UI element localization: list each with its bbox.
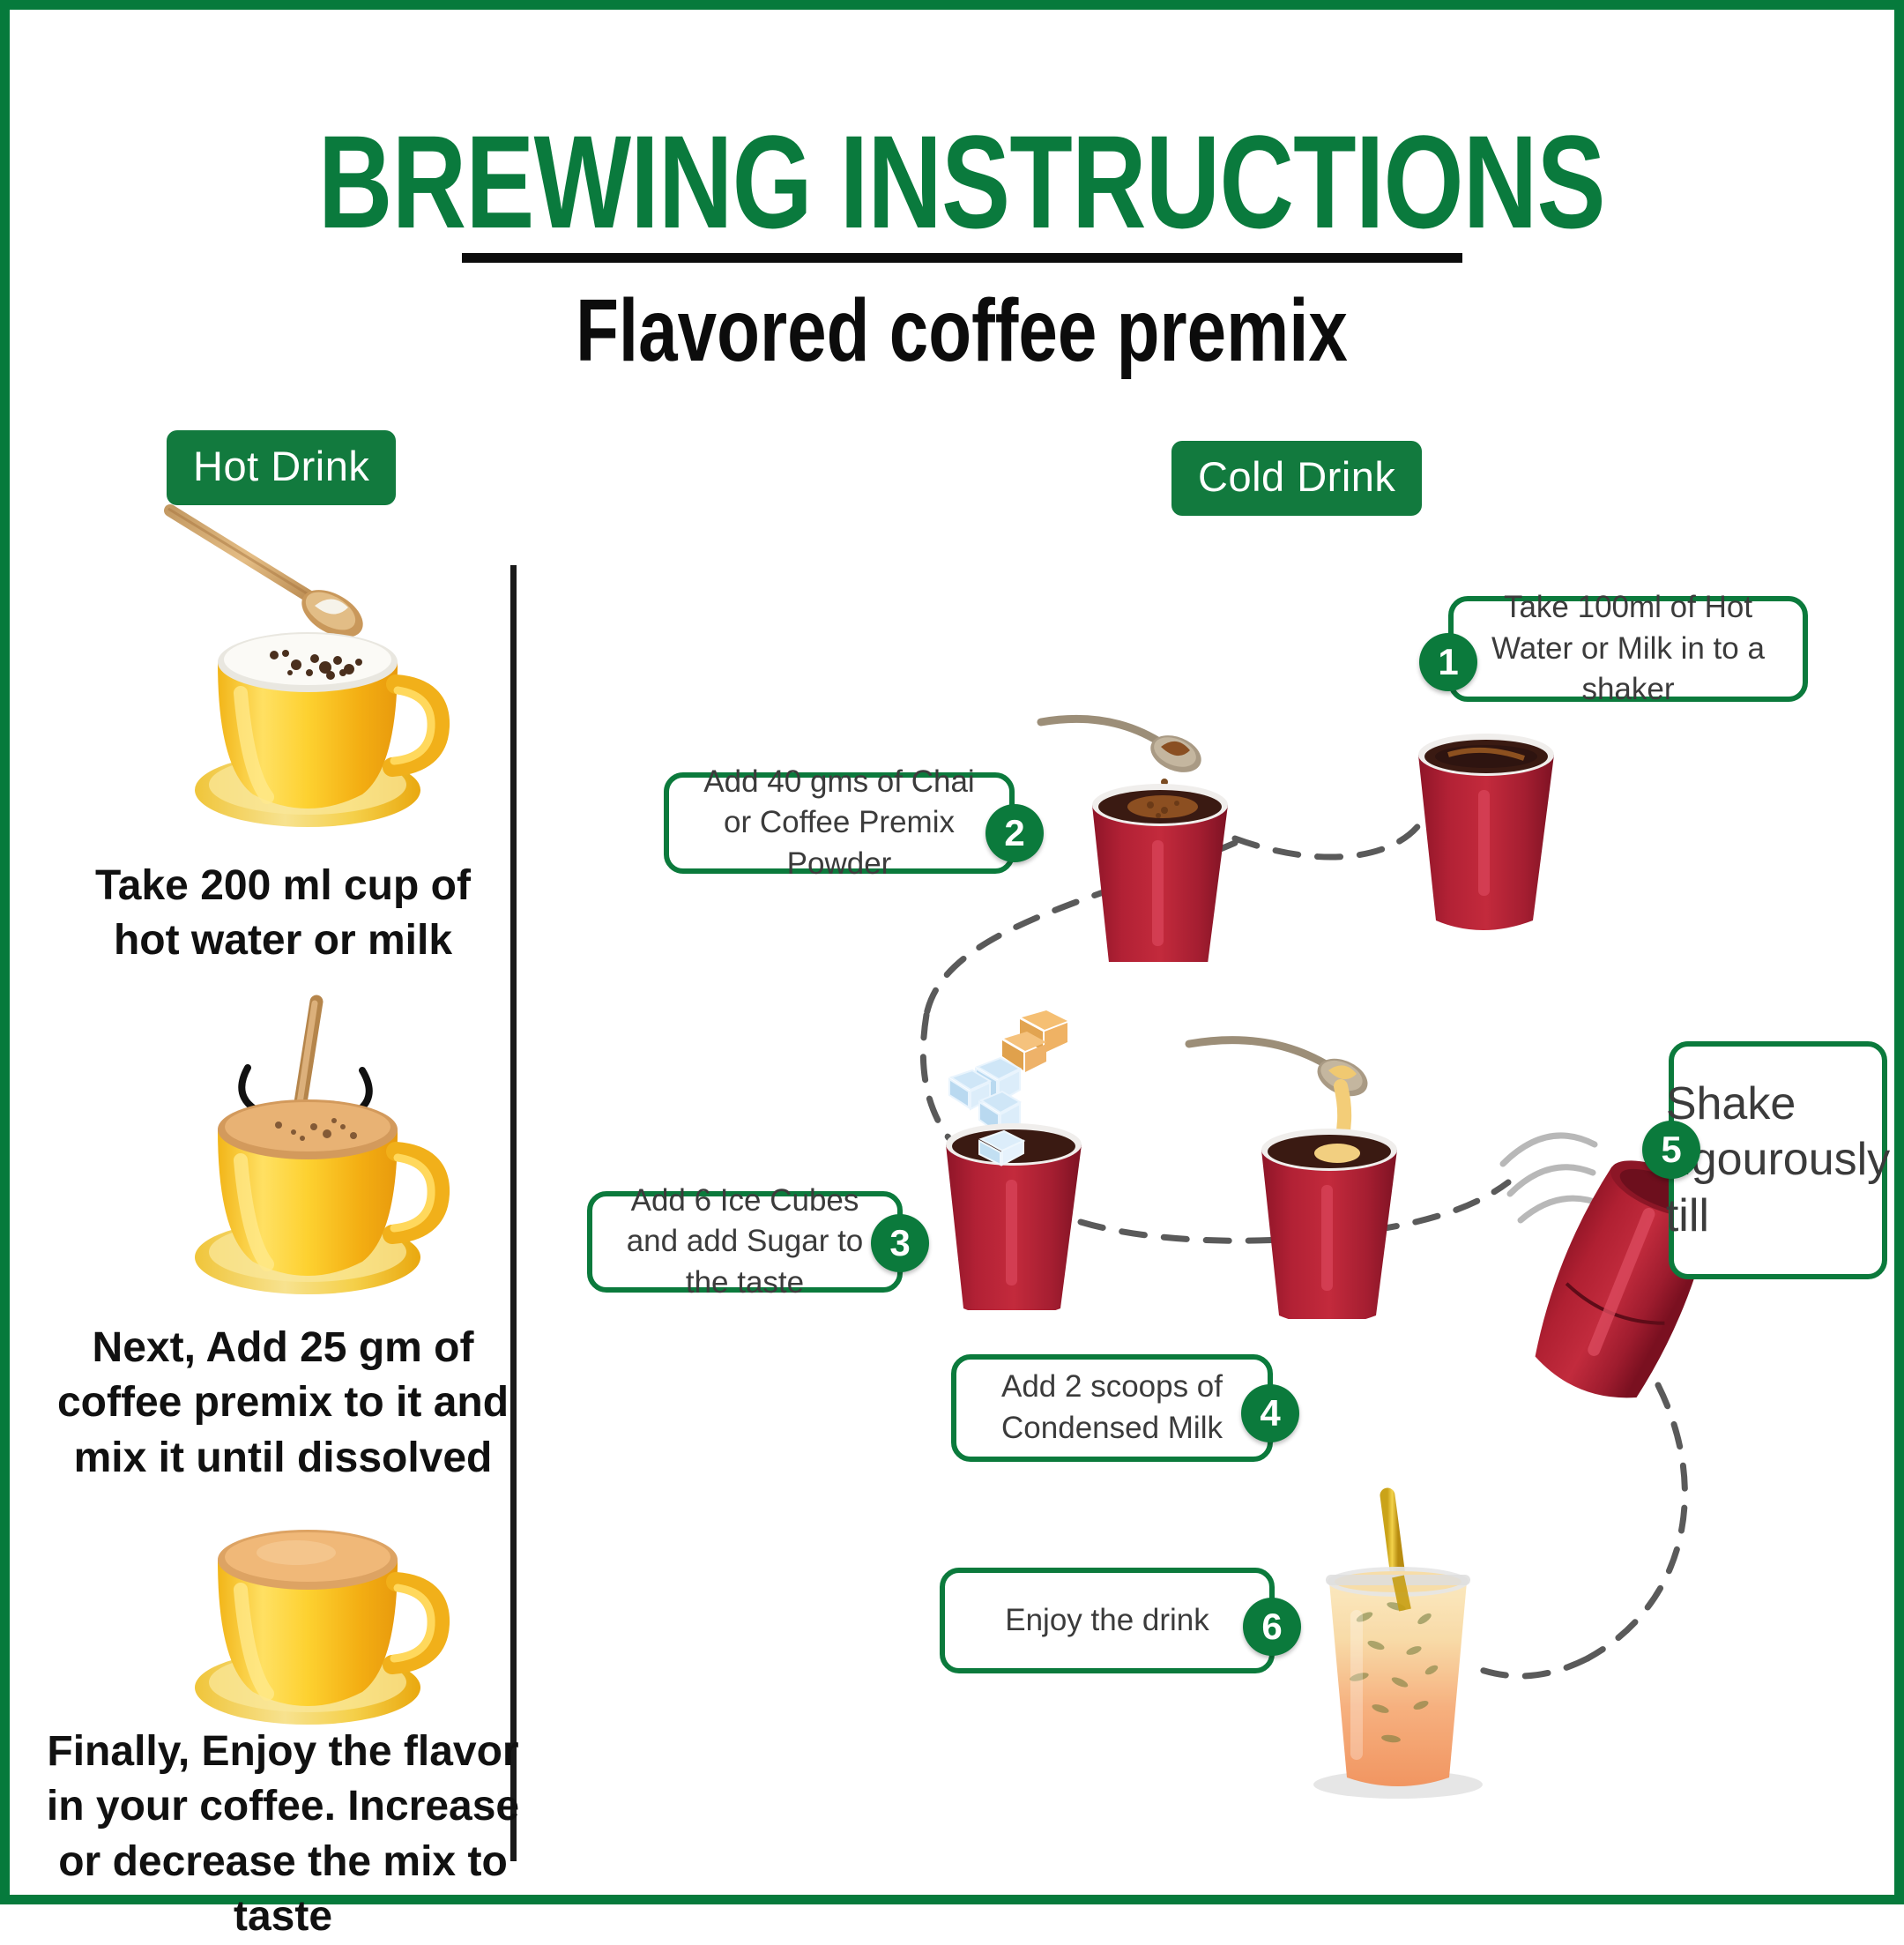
cold-step-5-callout[interactable]: 5 Shake rigourously till (1669, 1041, 1887, 1279)
cold-step-4-text: Add 2 scoops of Condensed Milk (956, 1367, 1268, 1449)
red-shaker-cup-with-liquid-illustration (1394, 719, 1579, 940)
yellow-cup-being-stirred-illustration (142, 975, 477, 1319)
hot-step-3-caption: Finally, Enjoy the flavor in your coffee… (45, 1725, 521, 1945)
cold-step-4-callout[interactable]: 4 Add 2 scoops of Condensed Milk (951, 1354, 1273, 1462)
page-subtitle: Flavored coffee premix (200, 282, 1723, 379)
cold-step-2-text: Add 40 gms of Chai or Coffee Premix Powd… (669, 762, 1009, 885)
yellow-cup-with-spoon-of-powder-illustration (142, 503, 477, 856)
hot-step-1-caption: Take 200 ml cup of hot water or milk (63, 859, 503, 969)
yellow-cup-of-finished-coffee-illustration (142, 1456, 477, 1747)
cold-step-3-callout[interactable]: 3 Add 6 Ice Cubes and add Sugar to the t… (587, 1191, 903, 1293)
step-number-badge: 5 (1642, 1121, 1700, 1179)
page-header: BREWING INSTRUCTIONS Flavored coffee pre… (10, 10, 1904, 379)
ice-cubes-and-sugar-cubes-over-red-cup-illustration (926, 993, 1200, 1310)
cold-drink-badge: Cold Drink (1171, 441, 1422, 516)
cold-step-1-text: Take 100ml of Hot Water or Milk in to a … (1454, 587, 1803, 711)
cold-step-2-callout[interactable]: 2 Add 40 gms of Chai or Coffee Premix Po… (664, 772, 1015, 874)
step-number-badge: 1 (1419, 633, 1477, 691)
cold-step-6-callout[interactable]: 6 Enjoy the drink (940, 1568, 1275, 1673)
step-number-badge: 6 (1243, 1598, 1301, 1656)
sugar-cubes-icon (1002, 1010, 1067, 1072)
page-title: BREWING INSTRUCTIONS (318, 116, 1605, 248)
hot-step-2-caption: Next, Add 25 gm of coffee premix to it a… (54, 1321, 512, 1486)
cold-step-3-text: Add 6 Ice Cubes and add Sugar to the tas… (592, 1181, 897, 1304)
spoon-of-condensed-milk-over-red-cup-illustration (1173, 1028, 1464, 1319)
cold-step-1-callout[interactable]: 1 Take 100ml of Hot Water or Milk in to … (1448, 596, 1808, 702)
spoon-of-premix-powder-over-red-cup-illustration (1032, 706, 1297, 962)
step-number-badge: 3 (871, 1214, 929, 1272)
cold-step-6-text: Enjoy the drink (982, 1600, 1232, 1642)
step-number-badge: 2 (985, 804, 1044, 862)
hot-drink-badge: Hot Drink (167, 430, 396, 505)
column-divider (510, 565, 517, 1861)
iced-coffee-cup-with-straw-illustration (1292, 1478, 1513, 1830)
infographic-page: BREWING INSTRUCTIONS Flavored coffee pre… (0, 0, 1904, 1904)
step-number-badge: 4 (1241, 1384, 1299, 1442)
